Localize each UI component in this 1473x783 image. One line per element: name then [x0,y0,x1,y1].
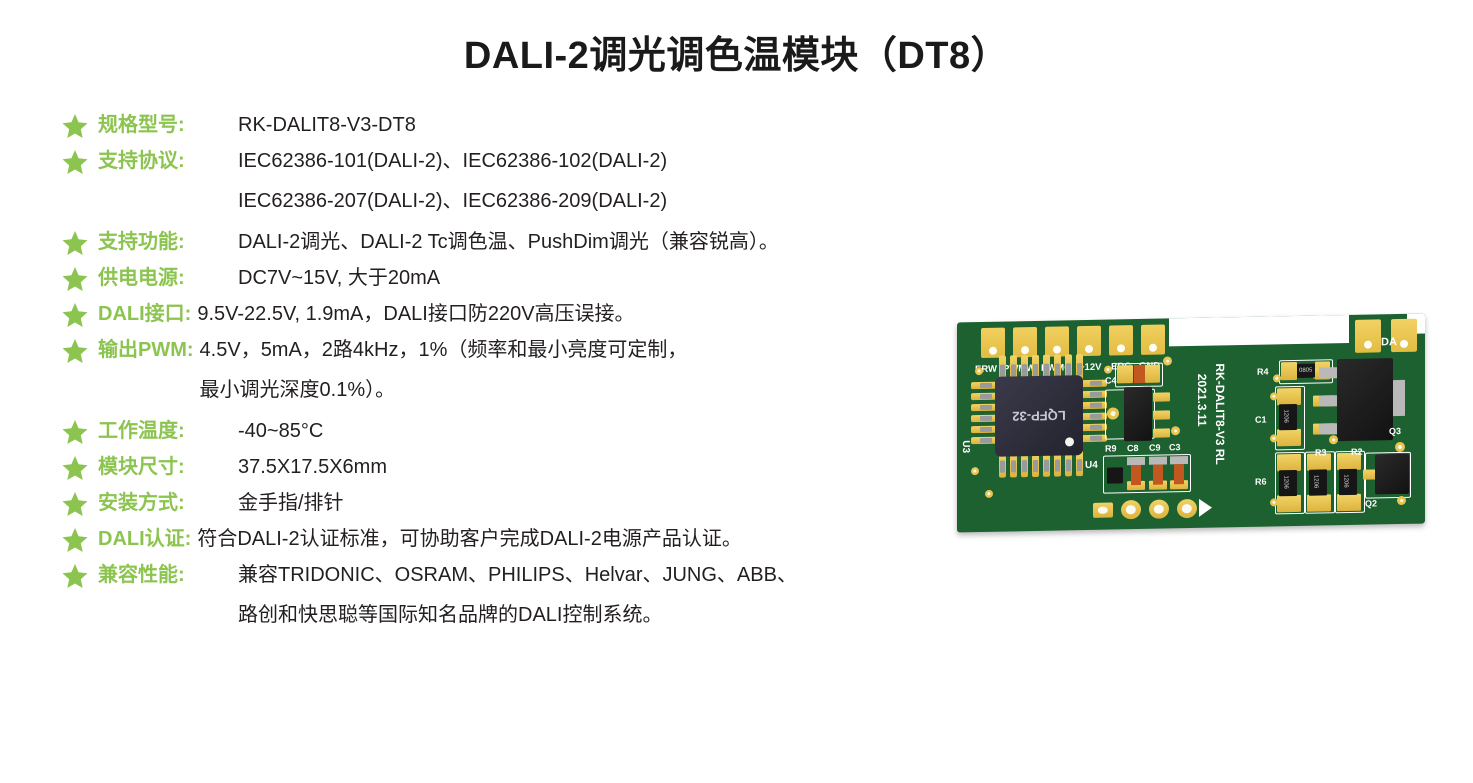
ic-pin [1081,380,1107,387]
smd-resistor: 1206 [1339,469,1357,495]
pcb-top-notch [1169,314,1349,347]
spec-value: 符合DALI-2认证标准，可协助客户完成DALI-2电源产品认证。 [197,526,742,553]
spec-value: 金手指/排针 [238,490,344,517]
silk-q3: Q3 [1389,426,1401,436]
spec-row-dali-certification: DALI认证: 符合DALI-2认证标准，可协助客户完成DALI-2电源产品认证… [62,526,1022,553]
smd-pad [1307,494,1331,511]
star-icon [62,303,88,330]
lead-frame [1319,367,1337,378]
spec-row-compatibility: 兼容性能: 兼容TRIDONIC、OSRAM、PHILIPS、Helvar、JU… [62,562,1022,629]
smd-pad [1277,388,1301,405]
bottom-round-pad [1177,499,1197,518]
ic-pin [1081,435,1107,442]
smd-pad [1149,456,1167,464]
spec-label: 安装方式: [98,490,220,517]
gold-finger-pad [1013,327,1037,357]
lead-frame [1393,380,1405,416]
via-hole [971,467,979,475]
star-icon [62,528,88,555]
spec-list: 规格型号: RK-DALIT8-V3-DT8 支持协议: IEC62386-10… [62,112,1022,638]
via-hole [1397,496,1406,505]
smd-pad [1277,429,1301,446]
star-icon [62,114,88,141]
silk-board-id: RK-DALIT8-V3 RL [1213,363,1227,465]
sot-regulator [1124,387,1152,442]
silk-board-date: 2021.3.11 [1195,374,1209,427]
q3-mosfet [1337,358,1393,441]
spec-label: 模块尺寸: [98,454,220,481]
via-hole [1163,356,1172,365]
spec-value-line1: IEC62386-101(DALI-2)、IEC62386-102(DALI-2… [238,150,667,172]
smd-pad [1337,494,1361,511]
smd-pad [1153,428,1170,437]
pcb-module-image: ERW PWMW PWMC +12V ERC GND DA [952,300,1432,545]
ic-pin [971,393,997,400]
ic-pin [971,415,997,422]
lqfp32-ic: LQFP-32 [995,375,1083,457]
spec-row-dimensions: 模块尺寸: 37.5X17.5X6mm [62,454,1022,481]
spec-value: DALI-2调光、DALI-2 Tc调色温、PushDim调光（兼容锐高）。 [238,229,779,256]
resistor-code: 1206 [1313,475,1319,488]
spec-value-line2: 最小调光深度0.1%）。 [200,377,688,404]
spec-label: 供电电源: [98,265,220,292]
ic-pin [971,437,997,444]
star-icon [62,339,88,366]
spec-label: 规格型号: [98,112,220,139]
resistor-code: 0805 [1299,368,1312,374]
spec-value-group: 兼容TRIDONIC、OSRAM、PHILIPS、Helvar、JUNG、ABB… [238,562,797,629]
page-title: DALI-2调光调色温模块（DT8） [0,24,1473,79]
pin-label-pwmw: PWMW [1003,363,1035,375]
spec-label: 支持协议: [98,148,220,175]
spec-value: DC7V~15V, 大于20mA [238,265,440,292]
smd-capacitor-body [1134,365,1145,383]
gold-finger-pad [1109,325,1133,355]
star-icon [62,150,88,177]
star-icon [62,420,88,447]
ic-pin [1081,391,1107,398]
spec-label: 兼容性能: [98,562,220,589]
spec-value-line1: 兼容TRIDONIC、OSRAM、PHILIPS、Helvar、JUNG、ABB… [238,564,797,586]
spec-value-line1: 4.5V，5mA，2路4kHz，1%（频率和最小亮度可定制， [200,339,688,361]
da-pad-left [1355,319,1381,352]
spec-label: DALI认证: [98,526,191,553]
smd-capacitor-body [1131,465,1141,485]
spec-row-mounting: 安装方式: 金手指/排针 [62,490,1022,517]
smd-capacitor-body [1174,464,1184,484]
ic-pin1-dot [1065,437,1074,446]
spec-row-operating-temperature: 工作温度: -40~85°C [62,418,1022,445]
spec-value-line2: IEC62386-207(DALI-2)、IEC62386-209(DALI-2… [238,188,667,215]
smd-resistor: 1206 [1309,469,1327,495]
resistor-code: 1206 [1283,475,1289,488]
star-icon [62,231,88,258]
ic-pin [1081,424,1107,431]
smd-pad [1145,365,1160,383]
smd-resistor: 1206 [1279,470,1297,496]
ic-pin [971,382,997,389]
via-hole [1395,442,1405,452]
via-hole [1329,435,1338,444]
resistor-code: 1206 [1343,474,1349,487]
silk-r9: R9 [1105,443,1117,453]
ic-pin [971,426,997,433]
silk-u4: U4 [1085,460,1098,471]
smd-pad [1170,456,1188,464]
lead-frame [1319,395,1337,406]
spec-row-pwm-output: 输出PWM: 4.5V，5mA，2路4kHz，1%（频率和最小亮度可定制， 最小… [62,337,1022,404]
gold-finger-pad [1045,326,1069,356]
spec-value: 9.5V-22.5V, 1.9mA，DALI接口防220V高压误接。 [197,301,634,328]
bottom-square-pad [1093,502,1113,517]
spec-label: 输出PWM: [98,337,194,364]
silk-q2: Q2 [1365,498,1377,508]
star-icon [62,492,88,519]
ic-pin [1081,402,1107,409]
silk-r6: R6 [1255,477,1267,487]
smd-pad [1153,410,1170,419]
smd-resistor: 1206 [1279,404,1297,430]
ic-marking-label: LQFP-32 [1012,408,1065,424]
silk-c4: C4 [1105,375,1117,385]
bottom-round-pad [1149,499,1169,518]
smd-pad [1153,392,1170,401]
spec-row-power-supply: 供电电源: DC7V~15V, 大于20mA [62,265,1022,292]
smd-resistor [1107,467,1123,483]
spec-row-model: 规格型号: RK-DALIT8-V3-DT8 [62,112,1022,139]
smd-capacitor-body [1153,465,1163,485]
ic-pin [1081,413,1107,420]
via-hole [985,490,993,498]
gold-finger-pad [1141,324,1165,354]
via-hole [1171,426,1180,435]
spec-value-group: 4.5V，5mA，2路4kHz，1%（频率和最小亮度可定制， 最小调光深度0.1… [200,337,688,404]
gold-finger-pad [1077,326,1101,356]
silk-c1: C1 [1255,415,1267,425]
smd-pad [1127,457,1145,465]
silk-c9: C9 [1149,443,1161,453]
spec-value: RK-DALIT8-V3-DT8 [238,112,416,139]
star-icon [62,564,88,591]
silk-r2: R2 [1351,447,1363,457]
lead-frame [1319,423,1337,434]
q2-transistor [1375,454,1409,495]
spec-value: -40~85°C [238,418,323,445]
smd-pad [1277,495,1301,512]
gold-finger-pad [981,328,1005,358]
resistor-code: 1206 [1283,409,1289,422]
silk-c8: C8 [1127,443,1139,453]
spec-row-dali-interface: DALI接口: 9.5V-22.5V, 1.9mA，DALI接口防220V高压误… [62,301,1022,328]
spec-row-protocol: 支持协议: IEC62386-101(DALI-2)、IEC62386-102(… [62,148,1022,215]
silk-r3: R3 [1315,447,1327,457]
silk-c3: C3 [1169,442,1181,452]
spec-label: 支持功能: [98,229,220,256]
silk-u3: U3 [960,440,971,453]
silk-r4: R4 [1257,367,1269,377]
smd-pad [1117,365,1133,383]
smd-resistor: 0805 [1297,364,1315,378]
pcb-board: ERW PWMW PWMC +12V ERC GND DA [957,314,1425,533]
spec-label: DALI接口: [98,301,191,328]
spec-value-line2: 路创和快思聪等国际知名品牌的DALI控制系统。 [238,602,797,629]
spec-value: 37.5X17.5X6mm [238,454,387,481]
orientation-triangle-marker [1199,499,1212,517]
spec-row-functions: 支持功能: DALI-2调光、DALI-2 Tc调色温、PushDim调光（兼容… [62,229,1022,256]
spec-label: 工作温度: [98,418,220,445]
smd-pad [1281,362,1297,380]
da-label: DA [1381,336,1397,348]
spec-value-group: IEC62386-101(DALI-2)、IEC62386-102(DALI-2… [238,148,667,215]
bottom-round-pad [1121,500,1141,519]
ic-pin [971,404,997,411]
star-icon [62,267,88,294]
star-icon [62,456,88,483]
smd-pad [1277,454,1301,471]
